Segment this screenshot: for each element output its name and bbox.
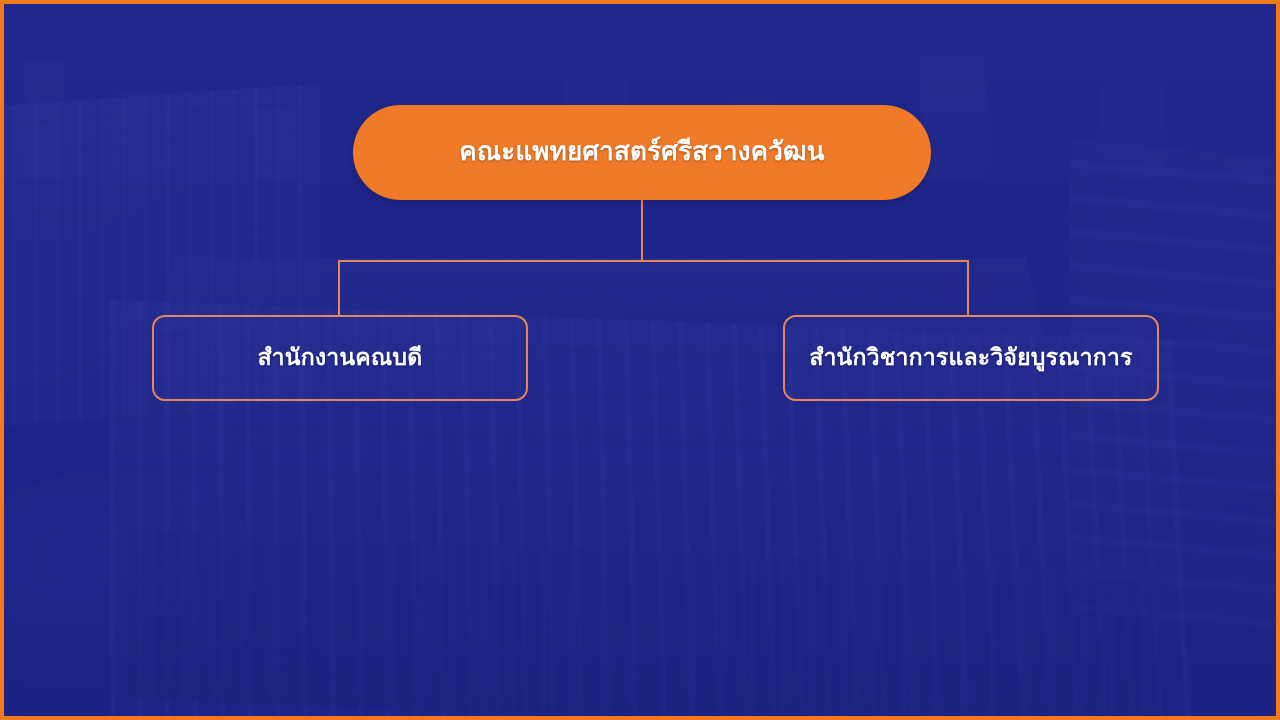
slide-canvas: คณะแพทยศาสตร์ศรีสวางควัฒน สำนักงานคณบดี … [0,0,1280,720]
org-node-root[interactable]: คณะแพทยศาสตร์ศรีสวางควัฒน [353,105,931,200]
connector-bus-to-left-child [338,260,340,316]
connector-bus-to-right-child [967,260,969,316]
org-chart: คณะแพทยศาสตร์ศรีสวางควัฒน สำนักงานคณบดี … [0,0,1280,720]
connector-root-to-bus [641,199,643,262]
connector-horizontal-bus [338,260,969,262]
org-node-child-right[interactable]: สำนักวิชาการและวิจัยบูรณาการ [783,315,1159,401]
org-node-child-left[interactable]: สำนักงานคณบดี [152,315,528,401]
